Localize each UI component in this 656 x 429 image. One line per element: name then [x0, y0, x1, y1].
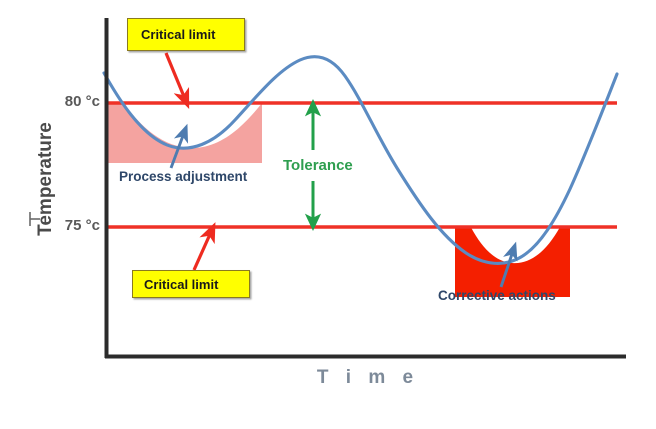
y-tick-label-75: 75 °c	[52, 217, 100, 234]
y-axis-title: Temperature	[35, 99, 57, 259]
y-tick-label-80: 80 °c	[52, 93, 100, 110]
callout-lower-critical-limit: Critical limit	[132, 270, 250, 298]
x-axis-title: T i m e	[238, 367, 498, 389]
label-tolerance: Tolerance	[283, 157, 353, 174]
shaded-region-corrective-actions	[455, 190, 570, 300]
lower-callout-arrow	[194, 232, 211, 270]
label-process-adjustment: Process adjustment	[119, 169, 247, 184]
upper-callout-arrow	[166, 53, 185, 99]
callout-upper-critical-limit: Critical limit	[127, 18, 245, 51]
label-corrective-actions: Corrective actions	[438, 288, 556, 303]
chart-figure: Temperature 80 °c 75 °c T i m e Critical…	[0, 0, 656, 429]
chart-canvas	[0, 0, 656, 429]
